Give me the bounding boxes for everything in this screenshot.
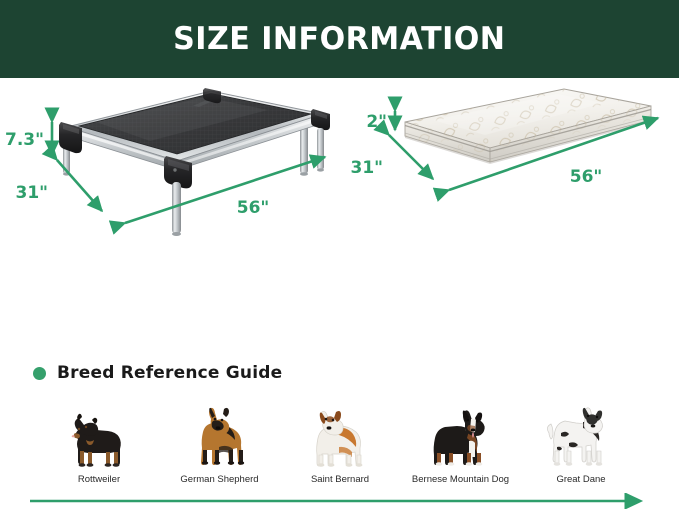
breed-label-great-dane: Great Dane [556, 474, 605, 485]
breed-guide-heading: Breed Reference Guide [33, 363, 282, 383]
breed-label-rottweiler: Rottweiler [78, 474, 120, 485]
breed-list: Rottweiler [40, 395, 640, 485]
mattress-illustration: 2" 31" 56" [345, 78, 679, 343]
product-diagrams: 7.3" 31" 56" [0, 78, 679, 343]
saint-bernard-figure [305, 401, 375, 469]
dog-cot-illustration: 7.3" 31" 56" [0, 78, 345, 343]
page-title: SIZE INFORMATION [173, 21, 505, 57]
german-shepherd-figure [189, 401, 251, 469]
saint-bernard-icon [305, 405, 375, 469]
bernese-mountain-dog-figure [425, 401, 497, 469]
infographic-root: SIZE INFORMATION [0, 0, 679, 518]
breed-item-german-shepherd: German Shepherd [161, 401, 279, 485]
header-banner: SIZE INFORMATION [0, 0, 679, 78]
great-dane-icon [543, 403, 619, 469]
german-shepherd-icon [189, 403, 251, 469]
cot-width-label: 56" [237, 198, 270, 218]
breed-item-bernese-mountain-dog: Bernese Mountain Dog [402, 401, 520, 485]
rottweiler-icon [62, 407, 136, 469]
size-progression-arrow [28, 493, 652, 509]
mattress-width-label: 56" [570, 167, 603, 187]
mattress-diagram: 2" 31" 56" [345, 78, 679, 343]
great-dane-figure [543, 401, 619, 469]
breed-label-saint-bernard: Saint Bernard [311, 474, 369, 485]
breed-item-saint-bernard: Saint Bernard [281, 401, 399, 485]
breed-item-rottweiler: Rottweiler [40, 401, 158, 485]
breed-guide-title: Breed Reference Guide [57, 363, 282, 383]
breed-label-german-shepherd: German Shepherd [180, 474, 258, 485]
cot-depth-label: 31" [15, 183, 48, 203]
dog-cot-diagram: 7.3" 31" 56" [0, 78, 345, 343]
bernese-mountain-dog-icon [425, 405, 497, 469]
mattress-depth-label: 31" [350, 158, 383, 178]
rottweiler-figure [62, 401, 136, 469]
breed-label-bernese-mountain-dog: Bernese Mountain Dog [412, 474, 509, 485]
breed-reference-section: Breed Reference Guide [0, 343, 679, 518]
cot-dimension-width [125, 157, 325, 223]
breed-item-great-dane: Great Dane [522, 401, 640, 485]
cot-frame [67, 91, 323, 170]
cot-dimension-depth [57, 160, 102, 211]
filled-circle-icon [33, 367, 46, 380]
mattress-height-label: 2" [366, 112, 387, 132]
cot-height-label: 7.3" [5, 130, 44, 150]
mattress-body [405, 89, 651, 164]
